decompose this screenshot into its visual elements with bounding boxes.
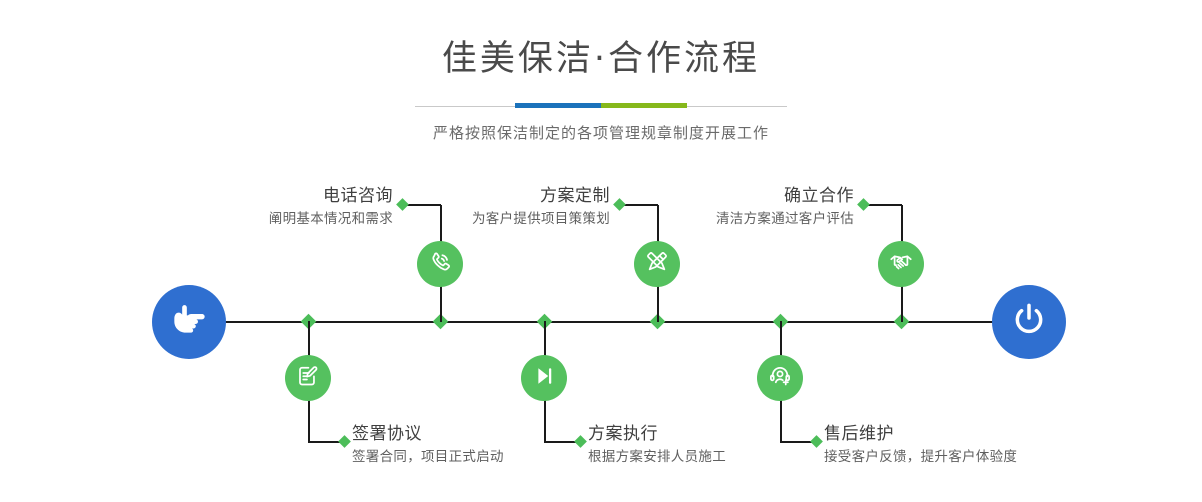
play-skip-icon: [531, 363, 557, 393]
step-label-3: 方案定制 为客户提供项目策策划: [380, 186, 610, 229]
phone-call-icon: [427, 249, 453, 279]
timeline-start-node: [152, 285, 226, 359]
power-icon: [1009, 300, 1049, 344]
page-title: 佳美保洁·合作流程: [0, 0, 1202, 77]
step-label-2: 签署协议 签署合同，项目正式启动: [352, 424, 612, 467]
step-title-5: 确立合作: [630, 186, 854, 207]
divider-segment-blue: [515, 103, 601, 108]
step-node-1[interactable]: [417, 241, 463, 287]
branch-lead-dot-3: [613, 198, 626, 211]
branch-lead-dot-5: [857, 198, 870, 211]
step-label-6: 售后维护 接受客户反馈，提升客户体验度: [824, 424, 1124, 467]
branch-lead-dot-2: [338, 435, 351, 448]
flowchart-canvas: 佳美保洁·合作流程 严格按照保洁制定的各项管理规章制度开展工作: [0, 0, 1202, 502]
step-node-2[interactable]: [285, 355, 331, 401]
step-label-5: 确立合作 清洁方案通过客户评估: [630, 186, 854, 229]
step-title-1: 电话咨询: [150, 186, 393, 207]
pencil-ruler-icon: [644, 249, 670, 279]
step-label-1: 电话咨询 阐明基本情况和需求: [150, 186, 393, 229]
branch-lead-5: [865, 204, 902, 206]
step-node-4[interactable]: [521, 355, 567, 401]
step-desc-5: 清洁方案通过客户评估: [630, 210, 854, 229]
step-label-4: 方案执行 根据方案安排人员施工: [588, 424, 848, 467]
step-desc-2: 签署合同，项目正式启动: [352, 448, 612, 467]
pointing-hand-icon: [169, 300, 209, 344]
customer-service-add-icon: [767, 363, 793, 393]
step-title-6: 售后维护: [824, 424, 1124, 445]
step-desc-3: 为客户提供项目策策划: [380, 210, 610, 229]
timeline-end-node: [992, 285, 1066, 359]
step-title-3: 方案定制: [380, 186, 610, 207]
divider-segment-green: [601, 103, 687, 108]
handshake-icon: [888, 249, 914, 279]
step-node-3[interactable]: [634, 241, 680, 287]
step-desc-4: 根据方案安排人员施工: [588, 448, 848, 467]
page-subtitle: 严格按照保洁制定的各项管理规章制度开展工作: [0, 122, 1202, 143]
title-divider: [415, 103, 787, 109]
header: 佳美保洁·合作流程 严格按照保洁制定的各项管理规章制度开展工作: [0, 0, 1202, 143]
step-node-5[interactable]: [878, 241, 924, 287]
step-desc-1: 阐明基本情况和需求: [150, 210, 393, 229]
step-node-6[interactable]: [757, 355, 803, 401]
step-desc-6: 接受客户反馈，提升客户体验度: [824, 448, 1124, 467]
document-edit-icon: [295, 363, 321, 393]
